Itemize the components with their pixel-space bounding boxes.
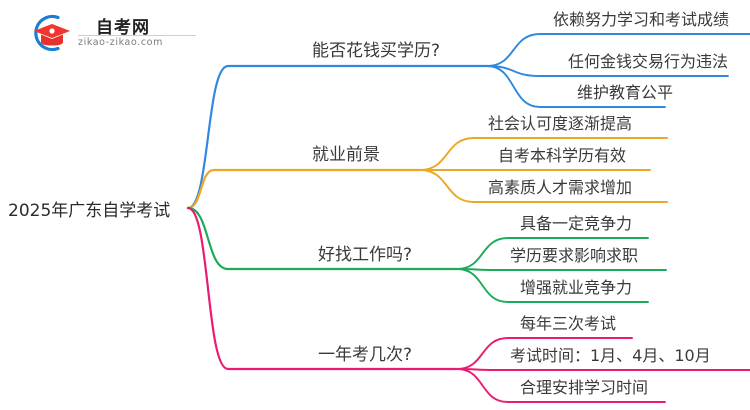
- mindmap-leaf-4-1[interactable]: 每年三次考试: [520, 310, 616, 334]
- mindmap-leaf-3-3[interactable]: 增强就业竞争力: [520, 274, 632, 298]
- mindmap-leaf-1-1[interactable]: 依赖努力学习和考试成绩: [553, 6, 729, 30]
- mindmap-branch-1[interactable]: 能否花钱买学历?: [312, 36, 440, 61]
- mindmap-branch-4[interactable]: 一年考几次?: [318, 340, 412, 365]
- mindmap-root-node[interactable]: 2025年广东自学考试: [8, 196, 170, 221]
- connector-line: [457, 269, 666, 270]
- mindmap-leaf-3-1[interactable]: 具备一定竞争力: [520, 210, 632, 234]
- connector-line: [457, 369, 750, 370]
- mindmap-leaf-4-2[interactable]: 考试时间：1月、4月、10月: [510, 342, 711, 366]
- mindmap-leaf-2-3[interactable]: 高素质人才需求增加: [488, 174, 632, 198]
- logo-wordmark: 自考网 zikao-zikao.com: [78, 12, 196, 52]
- mindmap-leaf-1-3[interactable]: 维护教育公平: [577, 79, 673, 103]
- logo-subtitle: zikao-zikao.com: [78, 37, 163, 48]
- graduation-cap-logo-icon: [30, 14, 72, 52]
- mindmap-leaf-4-3[interactable]: 合理安排学习时间: [520, 374, 648, 398]
- connector-line: [188, 170, 420, 208]
- logo-divider: [78, 35, 196, 36]
- connector-line: [188, 66, 487, 208]
- mindmap-branch-2[interactable]: 就业前景: [312, 140, 380, 165]
- mindmap-canvas: 自考网 zikao-zikao.com 2025年广东自学考试 能否花钱买学历?…: [0, 0, 750, 410]
- mindmap-leaf-2-1[interactable]: 社会认可度逐渐提高: [488, 110, 632, 134]
- mindmap-leaf-2-2[interactable]: 自考本科学历有效: [498, 142, 626, 166]
- mindmap-leaf-3-2[interactable]: 学历要求影响求职: [510, 242, 638, 266]
- site-logo[interactable]: 自考网 zikao-zikao.com: [30, 12, 200, 54]
- mindmap-leaf-1-2[interactable]: 任何金钱交易行为违法: [568, 48, 728, 72]
- mindmap-branch-3[interactable]: 好找工作吗?: [318, 240, 412, 265]
